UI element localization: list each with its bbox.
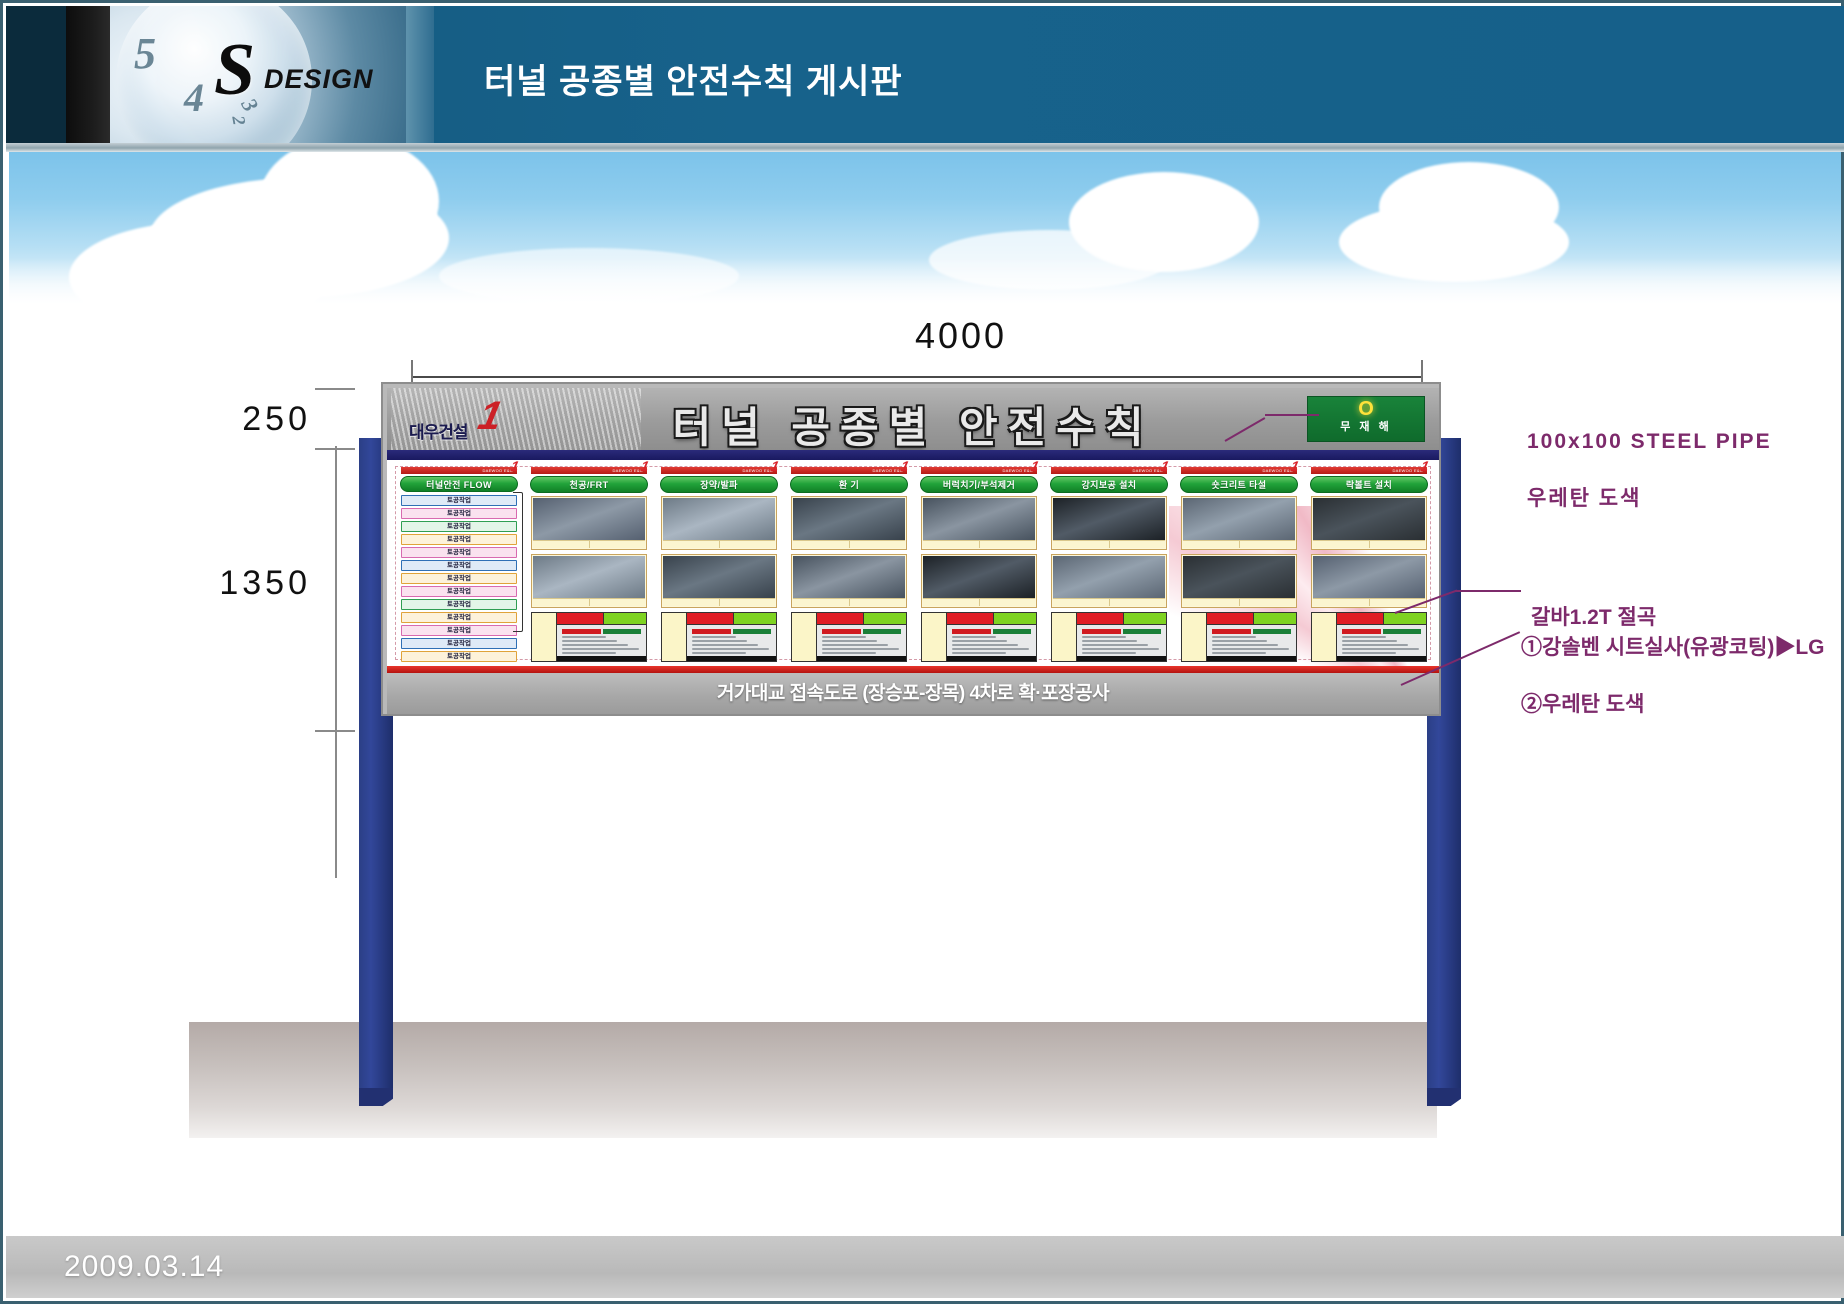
- sheet-body: [1337, 625, 1426, 656]
- sheet-mini-bars: [1212, 629, 1291, 634]
- sheet-bar-green: [734, 613, 776, 625]
- photo-cell: [1181, 496, 1297, 550]
- slide-frame: 5 4 3 2 S DESIGN 터널 공종별 안전수칙 게시판 4000: [0, 0, 1844, 1304]
- header-decor-darkband: [66, 6, 110, 143]
- sheet-text-line: [822, 652, 876, 654]
- column-header-1[interactable]: 터널안전 FLOW: [400, 476, 518, 492]
- sheet-text-line: [822, 644, 888, 646]
- sheet-bar-red: [817, 613, 864, 625]
- sheet-side-column: [922, 613, 947, 661]
- site-photo: [793, 556, 905, 598]
- sheet-bar-red: [1337, 613, 1384, 625]
- sheet-main-column: [557, 613, 646, 661]
- sheet-text-line: [1342, 652, 1396, 654]
- sheet-text-line: [692, 652, 746, 654]
- sheet-bar-red: [1207, 613, 1254, 625]
- sheet-body: [557, 625, 646, 656]
- photo-caption-row: [923, 540, 1035, 548]
- sheet-body: [687, 625, 776, 656]
- sheet-header-bars: [1207, 613, 1296, 625]
- flow-item[interactable]: 토공작업: [401, 599, 517, 610]
- callout-steel-pipe-line1: 100x100 STEEL PIPE: [1527, 428, 1772, 456]
- flow-item[interactable]: 토공작업: [401, 573, 517, 584]
- sheet-header-bars: [817, 613, 906, 625]
- photo-cell: [531, 554, 647, 608]
- column-header-2[interactable]: 천공/FRT: [530, 476, 648, 493]
- photo-caption-row: [663, 540, 775, 548]
- sheet-body: [947, 625, 1036, 656]
- sheet-body: [1077, 625, 1166, 656]
- dimension-width-label: 4000: [3, 315, 1844, 357]
- flow-item[interactable]: 토공작업: [401, 638, 517, 649]
- slide-footer: 2009.03.14: [6, 1236, 1844, 1298]
- site-photo: [663, 498, 775, 540]
- photo-caption-row: [533, 598, 645, 606]
- flow-item[interactable]: 토공작업: [401, 586, 517, 597]
- sheet-side-column: [1312, 613, 1337, 661]
- status-badge-label: 무 재 해: [1308, 421, 1424, 433]
- brand-logo-word: DESIGN: [264, 64, 374, 95]
- site-photo: [533, 556, 645, 598]
- photo-caption-row: [1183, 598, 1295, 606]
- sheet-text-line: [1342, 636, 1386, 638]
- dimension-250-label: 250: [161, 400, 311, 439]
- photo-cell: [1051, 554, 1167, 608]
- column-mark-icon: 1: [1420, 460, 1431, 474]
- board-panel: 1 대우건설 터널 공종별 안전수칙 O 무 재 해 DAEWOO E&C1터널…: [381, 382, 1441, 716]
- photo-cell: [661, 496, 777, 550]
- leader-line-2b: [1455, 590, 1521, 592]
- board-column: DAEWOO E&C1락볼트 설치: [1307, 464, 1431, 662]
- sheet-bar-red: [1077, 613, 1124, 625]
- sheet-bar-green: [604, 613, 646, 625]
- board-column: DAEWOO E&C1강지보공 설치: [1047, 464, 1171, 662]
- column-top-strip: DAEWOO E&C1: [921, 467, 1037, 474]
- column-top-strip: DAEWOO E&C1: [1181, 467, 1297, 474]
- photo-caption-row: [1313, 598, 1425, 606]
- sheet-text-line: [822, 648, 899, 650]
- sheet-footer: [557, 656, 646, 661]
- sheet-header-bars: [687, 613, 776, 625]
- column-top-strip: DAEWOO E&C1: [401, 467, 517, 474]
- column-mark-icon: 1: [1030, 460, 1041, 474]
- sheet-main-column: [817, 613, 906, 661]
- board-column: DAEWOO E&C1장약/발파: [657, 464, 781, 662]
- sheet-text-line: [692, 640, 747, 642]
- sheet-footer: [1207, 656, 1296, 661]
- sheet-text-line: [1212, 648, 1289, 650]
- brand-logo-letter: S: [214, 28, 253, 113]
- dimension-tick-bottom: [315, 730, 355, 732]
- column-top-strip: DAEWOO E&C1: [1051, 467, 1167, 474]
- sheet-text-line: [952, 640, 1007, 642]
- dimension-height-line: [335, 446, 337, 878]
- photo-cell: [921, 554, 1037, 608]
- sheet-text-line: [692, 644, 758, 646]
- sheet-mini-bars: [952, 629, 1031, 634]
- flow-item[interactable]: 토공작업: [401, 547, 517, 558]
- safety-rules-sheet[interactable]: [1311, 612, 1427, 662]
- column-mark-icon: 1: [900, 460, 911, 474]
- safety-rules-sheet[interactable]: [1051, 612, 1167, 662]
- safety-rules-sheet[interactable]: [531, 612, 647, 662]
- flow-item[interactable]: 토공작업: [401, 625, 517, 636]
- sheet-text-line: [952, 636, 996, 638]
- site-photo: [923, 556, 1035, 598]
- footer-date: 2009.03.14: [64, 1250, 224, 1284]
- safety-rules-sheet[interactable]: [791, 612, 907, 662]
- sheet-text-line: [562, 644, 628, 646]
- column-top-strip: DAEWOO E&C1: [1311, 467, 1427, 474]
- site-photo: [1183, 556, 1295, 598]
- photo-caption-row: [1183, 540, 1295, 548]
- sheet-main-column: [1337, 613, 1426, 661]
- photo-cell: [1181, 554, 1297, 608]
- sheet-mini-bars: [692, 629, 771, 634]
- page-title: 터널 공종별 안전수칙 게시판: [484, 54, 903, 103]
- callout-steel-pipe: 100x100 STEEL PIPE 우레탄 도색: [1527, 400, 1772, 542]
- sheet-footer: [1077, 656, 1166, 661]
- site-photo: [1313, 498, 1425, 540]
- sheet-text-line: [1082, 636, 1126, 638]
- photo-cell: [531, 496, 647, 550]
- zero-accident-icon: O: [1308, 397, 1424, 421]
- support-post-right-foot: [1427, 1088, 1461, 1106]
- header-divider: [406, 6, 434, 143]
- photo-caption-row: [1313, 540, 1425, 548]
- sheet-bar-green: [864, 613, 906, 625]
- sheet-mini-bars: [1082, 629, 1161, 634]
- site-photo: [923, 498, 1035, 540]
- flow-item[interactable]: 토공작업: [401, 560, 517, 571]
- sheet-text-line: [952, 644, 1018, 646]
- sheet-text-line: [822, 636, 866, 638]
- sheet-bar-green: [994, 613, 1036, 625]
- photo-cell: [921, 496, 1037, 550]
- board-red-strip: [387, 666, 1439, 673]
- board-title: 터널 공종별 안전수칙: [387, 394, 1439, 450]
- callout-sheet: ①강솔벤 시트실사(유광코팅)▶LG ②우레탄 도색: [1521, 606, 1825, 748]
- sheet-mini-bars: [822, 629, 901, 634]
- dimension-1350-label: 1350: [133, 564, 311, 603]
- sheet-text-line: [1082, 648, 1159, 650]
- dimension-tick-top: [315, 388, 355, 390]
- sheet-mini-bars: [1342, 629, 1421, 634]
- flow-loop-arrow-icon: [513, 492, 523, 632]
- sheet-footer: [1337, 656, 1426, 661]
- sheet-text-line: [562, 636, 606, 638]
- callout-sheet-line2: ②우레탄 도색: [1521, 691, 1825, 719]
- project-banner: 거가대교 접속도로 (장승포-장목) 4차로 확·포장공사: [387, 673, 1439, 714]
- header-underline: [6, 143, 1844, 152]
- sheet-text-line: [562, 640, 617, 642]
- flow-list: 토공작업토공작업토공작업토공작업토공작업토공작업토공작업토공작업토공작업토공작업…: [401, 495, 517, 662]
- photo-cell: [1311, 554, 1427, 608]
- board-content-area: DAEWOO E&C1터널안전 FLOW토공작업토공작업토공작업토공작업토공작업…: [387, 460, 1439, 666]
- sheet-footer: [817, 656, 906, 661]
- board-accent-strip: [387, 450, 1439, 460]
- signboard: 1 대우건설 터널 공종별 안전수칙 O 무 재 해 DAEWOO E&C1터널…: [381, 382, 1441, 902]
- sheet-footer: [687, 656, 776, 661]
- sheet-text-line: [692, 648, 769, 650]
- column-top-strip: DAEWOO E&C1: [531, 467, 647, 474]
- sheet-text-line: [1212, 652, 1266, 654]
- dimension-tick-mid: [315, 448, 355, 450]
- sheet-text-line: [822, 640, 877, 642]
- sheet-side-column: [532, 613, 557, 661]
- sheet-footer: [947, 656, 1036, 661]
- photo-caption-row: [923, 598, 1035, 606]
- photo-cell: [791, 496, 907, 550]
- photo-cell: [1311, 496, 1427, 550]
- column-header-6[interactable]: 강지보공 설치: [1050, 476, 1168, 493]
- board-column: DAEWOO E&C1숏크리트 타설: [1177, 464, 1301, 662]
- sheet-bar-green: [1254, 613, 1296, 625]
- slide-header: 5 4 3 2 S DESIGN 터널 공종별 안전수칙 게시판: [6, 6, 1844, 143]
- photo-caption-row: [793, 540, 905, 548]
- sheet-main-column: [687, 613, 776, 661]
- sheet-text-line: [562, 652, 616, 654]
- photo-caption-row: [1053, 598, 1165, 606]
- header-decor-leftband: [6, 6, 66, 143]
- board-header: 1 대우건설 터널 공종별 안전수칙 O 무 재 해: [387, 388, 1439, 450]
- callout-sheet-line1: ①강솔벤 시트실사(유광코팅)▶LG: [1521, 634, 1825, 662]
- sheet-text-line: [692, 636, 736, 638]
- site-photo: [1183, 498, 1295, 540]
- column-header-7[interactable]: 숏크리트 타설: [1180, 476, 1298, 493]
- safety-rules-sheet[interactable]: [661, 612, 777, 662]
- dimension-width-line: [411, 376, 1423, 378]
- board-column: DAEWOO E&C1천공/FRT: [527, 464, 651, 662]
- sheet-text-line: [1082, 640, 1137, 642]
- sheet-body: [1207, 625, 1296, 656]
- board-column: DAEWOO E&C1터널안전 FLOW토공작업토공작업토공작업토공작업토공작업…: [397, 464, 521, 662]
- sheet-text-line: [1212, 644, 1278, 646]
- sheet-header-bars: [1077, 613, 1166, 625]
- sheet-body: [817, 625, 906, 656]
- flow-item[interactable]: 토공작업: [401, 521, 517, 532]
- sheet-text-line: [562, 648, 639, 650]
- photo-cell: [1051, 496, 1167, 550]
- sheet-text-line: [1342, 644, 1408, 646]
- sheet-side-column: [662, 613, 687, 661]
- sheet-main-column: [1207, 613, 1296, 661]
- photo-cell: [661, 554, 777, 608]
- sheet-header-bars: [557, 613, 646, 625]
- sheet-bar-green: [1384, 613, 1426, 625]
- safety-rules-sheet[interactable]: [1181, 612, 1297, 662]
- column-mark-icon: 1: [510, 460, 521, 474]
- flow-item[interactable]: 토공작업: [401, 612, 517, 623]
- column-top-strip: DAEWOO E&C1: [661, 467, 777, 474]
- sheet-side-column: [792, 613, 817, 661]
- site-photo: [1313, 556, 1425, 598]
- leader-line-1b: [1265, 414, 1319, 416]
- sheet-main-column: [1077, 613, 1166, 661]
- flow-item[interactable]: 토공작업: [401, 495, 517, 506]
- photo-caption-row: [1053, 540, 1165, 548]
- column-mark-icon: 1: [770, 460, 781, 474]
- sheet-bar-green: [1124, 613, 1166, 625]
- sheet-text-line: [1342, 640, 1397, 642]
- sheet-bar-red: [687, 613, 734, 625]
- callout-steel-pipe-line2: 우레탄 도색: [1527, 485, 1772, 513]
- safety-rules-sheet[interactable]: [921, 612, 1037, 662]
- sheet-header-bars: [947, 613, 1036, 625]
- site-photo: [533, 498, 645, 540]
- flow-item[interactable]: 토공작업: [401, 508, 517, 519]
- sheet-mini-bars: [562, 629, 641, 634]
- sheet-header-bars: [1337, 613, 1426, 625]
- sheet-text-line: [1342, 648, 1419, 650]
- column-header-5[interactable]: 버럭치기/부석제거: [920, 476, 1038, 493]
- site-photo: [1053, 498, 1165, 540]
- status-badge: O 무 재 해: [1307, 396, 1425, 442]
- sheet-text-line: [1082, 644, 1148, 646]
- sheet-text-line: [1082, 652, 1136, 654]
- column-top-strip: DAEWOO E&C1: [791, 467, 907, 474]
- sheet-main-column: [947, 613, 1036, 661]
- sheet-bar-red: [557, 613, 604, 625]
- flow-item[interactable]: 토공작업: [401, 651, 517, 662]
- column-mark-icon: 1: [1290, 460, 1301, 474]
- column-mark-icon: 1: [1160, 460, 1171, 474]
- clock-numeral-5: 5: [134, 28, 156, 79]
- board-column: DAEWOO E&C1버럭치기/부석제거: [917, 464, 1041, 662]
- photo-caption-row: [533, 540, 645, 548]
- sheet-side-column: [1052, 613, 1077, 661]
- clock-numeral-4: 4: [184, 74, 204, 121]
- sheet-text-line: [1212, 636, 1256, 638]
- photo-caption-row: [663, 598, 775, 606]
- sheet-bar-red: [947, 613, 994, 625]
- site-photo: [1053, 556, 1165, 598]
- column-container: DAEWOO E&C1터널안전 FLOW토공작업토공작업토공작업토공작업토공작업…: [397, 464, 1431, 662]
- sheet-text-line: [952, 652, 1006, 654]
- photo-cell: [791, 554, 907, 608]
- flow-item[interactable]: 토공작업: [401, 534, 517, 545]
- column-mark-icon: 1: [640, 460, 651, 474]
- column-header-3[interactable]: 장약/발파: [660, 476, 778, 493]
- sheet-text-line: [952, 648, 1029, 650]
- board-column: DAEWOO E&C1환 기: [787, 464, 911, 662]
- sheet-side-column: [1182, 613, 1207, 661]
- sheet-text-line: [1212, 640, 1267, 642]
- site-photo: [793, 498, 905, 540]
- drawing-canvas: 4000 250 1350 1 대우건설 터널 공종별 안전수칙: [3, 152, 1844, 1242]
- site-photo: [663, 556, 775, 598]
- photo-caption-row: [793, 598, 905, 606]
- column-header-4[interactable]: 환 기: [790, 476, 908, 493]
- column-header-8[interactable]: 락볼트 설치: [1310, 476, 1428, 493]
